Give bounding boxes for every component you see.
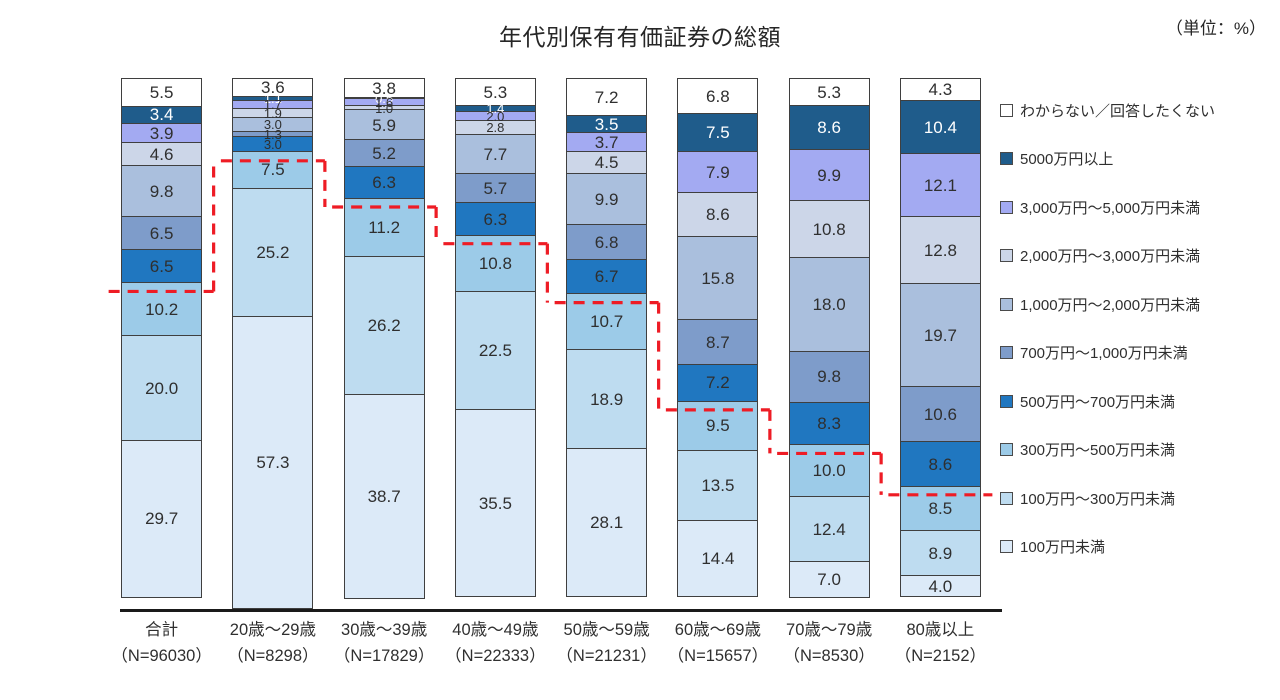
bar-segment[interactable]: 7.2 <box>566 78 647 116</box>
segment-value-label: 3.5 <box>595 116 619 133</box>
legend-label: 2,000万円～3,000万円未満 <box>1020 245 1200 266</box>
bar-segment[interactable]: 6.5 <box>121 216 202 251</box>
bar-segment[interactable]: 8.3 <box>789 402 870 446</box>
legend-swatch-icon <box>1000 152 1013 165</box>
bar-segment[interactable]: 29.7 <box>121 440 202 598</box>
x-axis-labels: 合計（N=96030）20歳～29歳（N=8298）30歳～39歳（N=1782… <box>106 618 996 669</box>
segment-value-label: 29.7 <box>145 510 178 527</box>
bar-segment[interactable]: 18.0 <box>789 257 870 353</box>
stacked-bar[interactable]: 4.310.412.112.819.710.68.68.58.94.0 <box>900 78 981 609</box>
bar-segment[interactable]: 4.0 <box>900 575 981 596</box>
legend-swatch-icon <box>1000 201 1013 214</box>
legend-label: 100万円未満 <box>1020 536 1105 557</box>
bar-segment[interactable]: 3.4 <box>121 106 202 124</box>
segment-value-label: 3.9 <box>150 125 174 142</box>
legend-swatch-icon <box>1000 443 1013 456</box>
segment-value-label: 28.1 <box>590 514 623 531</box>
segment-value-label: 10.6 <box>924 406 957 423</box>
segment-value-label: 9.5 <box>706 417 730 434</box>
bar-segment[interactable]: 6.3 <box>344 166 425 199</box>
bar-segment[interactable]: 9.8 <box>121 165 202 217</box>
x-axis-label: 40歳～49歳（N=22333） <box>440 618 551 669</box>
segment-value-label: 11.2 <box>368 219 400 236</box>
segment-value-label: 6.5 <box>150 258 174 275</box>
segment-value-label: 6.8 <box>595 234 619 251</box>
bar-segment[interactable]: 7.0 <box>789 561 870 598</box>
bar-segment[interactable]: 38.7 <box>344 394 425 599</box>
segment-value-label: 38.7 <box>368 488 401 505</box>
segment-value-label: 8.9 <box>929 545 953 562</box>
x-axis-category: 30歳～39歳 <box>341 621 427 639</box>
bar-segment[interactable]: 10.2 <box>121 282 202 336</box>
segment-value-label: 6.3 <box>484 211 508 228</box>
stacked-bar[interactable]: 5.31.42.02.87.75.76.310.822.535.5 <box>455 78 536 609</box>
bar-segment[interactable]: 3.5 <box>566 115 647 134</box>
segment-value-label: 6.8 <box>706 88 730 105</box>
bar-segment[interactable]: 3.7 <box>566 132 647 152</box>
bar-segment[interactable]: 7.5 <box>677 113 758 153</box>
segment-value-label: 5.3 <box>817 84 841 101</box>
segment-value-label: 8.5 <box>929 500 953 517</box>
segment-value-label: 5.7 <box>484 180 508 197</box>
stacked-bar-group: 5.53.43.94.69.86.56.510.220.029.73.61.11… <box>106 78 996 609</box>
segment-value-label: 5.3 <box>484 84 508 101</box>
segment-value-label: 9.8 <box>817 368 841 385</box>
bar-segment[interactable]: 5.2 <box>344 139 425 167</box>
legend-item[interactable]: 100万円未満 <box>1000 523 1275 572</box>
segment-value-label: 1.0 <box>375 102 393 115</box>
bar-column: 4.310.412.112.819.710.68.68.58.94.0 <box>885 78 996 609</box>
stacked-bar[interactable]: 3.80.51.61.05.95.26.311.226.238.7 <box>344 78 425 609</box>
segment-value-label: 7.5 <box>706 124 730 141</box>
bar-column: 5.53.43.94.69.86.56.510.220.029.7 <box>106 78 217 609</box>
segment-value-label: 8.3 <box>817 415 841 432</box>
bar-segment[interactable]: 9.9 <box>566 173 647 226</box>
segment-value-label: 10.4 <box>924 119 957 136</box>
segment-value-label: 7.9 <box>706 164 730 181</box>
bar-segment[interactable]: 10.6 <box>900 386 981 442</box>
bar-segment[interactable]: 7.7 <box>455 134 536 175</box>
segment-value-label: 19.7 <box>924 327 957 344</box>
legend-label: 300万円～500万円未満 <box>1020 439 1175 460</box>
bar-segment[interactable]: 12.8 <box>900 216 981 284</box>
x-axis-label: 合計（N=96030） <box>106 618 217 669</box>
bar-column: 3.61.11.71.93.01.33.07.525.257.3 <box>217 78 328 609</box>
legend-item[interactable]: 100万円～300万円未満 <box>1000 474 1275 523</box>
bar-segment[interactable]: 3.0 <box>232 136 313 151</box>
bar-segment[interactable]: 8.6 <box>789 105 870 151</box>
segment-value-label: 10.2 <box>145 301 178 318</box>
bar-segment[interactable]: 22.5 <box>455 291 536 410</box>
segment-value-label: 3.7 <box>595 134 619 151</box>
bar-segment[interactable]: 5.7 <box>455 173 536 203</box>
bar-segment[interactable]: 6.7 <box>566 259 647 295</box>
x-axis-sample-size: （N=15657） <box>662 644 773 670</box>
x-axis-sample-size: （N=8530） <box>774 644 885 670</box>
bar-segment[interactable]: 8.9 <box>900 530 981 577</box>
x-axis-category: 80歳以上 <box>906 621 974 639</box>
x-axis-category: 合計 <box>145 621 178 639</box>
x-axis-category: 60歳～69歳 <box>675 621 761 639</box>
legend-label: 5000万円以上 <box>1020 148 1113 169</box>
bar-segment[interactable]: 8.6 <box>677 192 758 238</box>
bar-segment[interactable]: 6.8 <box>677 78 758 114</box>
segment-value-label: 5.5 <box>150 84 174 101</box>
segment-value-label: 4.6 <box>150 146 174 163</box>
bar-segment[interactable]: 57.3 <box>232 316 313 609</box>
bar-segment[interactable]: 6.5 <box>121 249 202 284</box>
segment-value-label: 5.9 <box>372 117 396 134</box>
bar-segment[interactable]: 28.1 <box>566 448 647 597</box>
segment-value-label: 7.5 <box>261 161 285 178</box>
x-axis-sample-size: （N=17829） <box>329 644 440 670</box>
segment-value-label: 4.0 <box>929 578 953 595</box>
segment-value-label: 9.8 <box>150 183 174 200</box>
legend-swatch-icon <box>1000 540 1013 553</box>
segment-value-label: 10.7 <box>590 313 623 330</box>
bar-segment[interactable]: 10.8 <box>789 200 870 257</box>
bar-segment[interactable]: 9.8 <box>789 351 870 403</box>
legend-item[interactable]: 700万円～1,000万円未満 <box>1000 329 1275 378</box>
x-axis-category: 70歳～79歳 <box>786 621 872 639</box>
bar-segment[interactable]: 6.3 <box>455 202 536 235</box>
segment-value-label: 12.1 <box>924 177 957 194</box>
segment-value-label: 5.2 <box>372 145 396 162</box>
bar-segment[interactable]: 4.3 <box>900 78 981 101</box>
bar-segment[interactable]: 7.9 <box>677 151 758 193</box>
segment-value-label: 10.8 <box>479 255 512 272</box>
x-axis-label: 20歳～29歳（N=8298） <box>217 618 328 669</box>
bar-segment[interactable]: 3.9 <box>121 123 202 144</box>
x-axis-sample-size: （N=21231） <box>551 644 662 670</box>
segment-value-label: 18.0 <box>813 296 846 313</box>
bar-column: 7.23.53.74.59.96.86.710.718.928.1 <box>551 78 662 609</box>
bar-segment[interactable]: 6.8 <box>566 224 647 260</box>
legend-label: 1,000万円～2,000万円未満 <box>1020 294 1200 315</box>
bar-segment[interactable]: 7.2 <box>677 364 758 402</box>
legend-label: 100万円～300万円未満 <box>1020 488 1175 509</box>
bar-segment[interactable]: 26.2 <box>344 256 425 395</box>
segment-value-label: 7.0 <box>817 571 841 588</box>
bar-segment[interactable]: 15.8 <box>677 236 758 320</box>
legend-label: 700万円～1,000万円未満 <box>1020 342 1188 363</box>
legend-swatch-icon <box>1000 346 1013 359</box>
segment-value-label: 12.8 <box>924 242 957 259</box>
segment-value-label: 14.4 <box>701 550 734 567</box>
stacked-bar[interactable]: 7.23.53.74.59.96.86.710.718.928.1 <box>566 78 647 609</box>
bar-segment[interactable]: 18.9 <box>566 349 647 449</box>
segment-value-label: 9.9 <box>595 191 619 208</box>
segment-value-label: 26.2 <box>368 317 401 334</box>
x-axis-label: 80歳以上（N=2152） <box>885 618 996 669</box>
stacked-bar[interactable]: 3.61.11.71.93.01.33.07.525.257.3 <box>232 78 313 609</box>
bar-segment[interactable]: 12.1 <box>900 153 981 217</box>
bar-segment[interactable]: 7.5 <box>232 151 313 189</box>
segment-value-label: 8.7 <box>706 334 730 351</box>
legend-item[interactable]: 2,000万円～3,000万円未満 <box>1000 232 1275 281</box>
bar-segment[interactable]: 12.4 <box>789 496 870 562</box>
bar-segment[interactable]: 9.5 <box>677 401 758 451</box>
legend-item[interactable]: 300万円～500万円未満 <box>1000 426 1275 475</box>
segment-value-label: 15.8 <box>701 270 734 287</box>
x-axis-label: 70歳～79歳（N=8530） <box>774 618 885 669</box>
segment-value-label: 10.0 <box>813 462 846 479</box>
segment-value-label: 25.2 <box>256 244 289 261</box>
segment-value-label: 6.3 <box>372 174 396 191</box>
bar-segment[interactable]: 20.0 <box>121 335 202 441</box>
bar-segment[interactable]: 8.6 <box>900 441 981 487</box>
bar-segment[interactable]: 25.2 <box>232 188 313 317</box>
bar-column: 3.80.51.61.05.95.26.311.226.238.7 <box>329 78 440 609</box>
legend-swatch-icon <box>1000 492 1013 505</box>
x-axis-sample-size: （N=22333） <box>440 644 551 670</box>
bar-column: 5.38.69.910.818.09.88.310.012.47.0 <box>774 78 885 609</box>
legend-swatch-icon <box>1000 249 1013 262</box>
bar-segment[interactable]: 10.4 <box>900 100 981 155</box>
segment-value-label: 2.8 <box>486 121 504 134</box>
bar-segment[interactable]: 10.0 <box>789 444 870 497</box>
legend-swatch-icon <box>1000 395 1013 408</box>
x-axis-category: 20歳～29歳 <box>230 621 316 639</box>
segment-value-label: 8.6 <box>706 206 730 223</box>
segment-value-label: 3.4 <box>150 106 174 123</box>
segment-value-label: 9.9 <box>817 167 841 184</box>
legend-item[interactable]: 1,000万円～2,000万円未満 <box>1000 280 1275 329</box>
bar-segment[interactable]: 14.4 <box>677 520 758 596</box>
bar-segment[interactable]: 8.5 <box>900 486 981 531</box>
bar-segment[interactable]: 5.5 <box>121 78 202 107</box>
legend-item[interactable]: 3,000万円～5,000万円未満 <box>1000 183 1275 232</box>
page-title: 年代別保有有価証券の総額 <box>0 18 1280 52</box>
bar-segment[interactable]: 9.9 <box>789 149 870 202</box>
segment-value-label: 4.5 <box>595 154 619 171</box>
segment-value-label: 8.6 <box>929 456 953 473</box>
segment-value-label: 10.8 <box>813 221 846 238</box>
segment-value-label: 4.3 <box>929 81 953 98</box>
legend-swatch-icon <box>1000 104 1013 117</box>
bar-segment[interactable]: 19.7 <box>900 283 981 388</box>
stacked-bar[interactable]: 5.38.69.910.818.09.88.310.012.47.0 <box>789 78 870 609</box>
bar-column: 5.31.42.02.87.75.76.310.822.535.5 <box>440 78 551 609</box>
segment-value-label: 18.9 <box>590 391 623 408</box>
segment-value-label: 57.3 <box>256 454 289 471</box>
segment-value-label: 7.2 <box>706 374 730 391</box>
legend-label: 500万円～700万円未満 <box>1020 391 1175 412</box>
x-axis-sample-size: （N=2152） <box>885 644 996 670</box>
x-axis-category: 40歳～49歳 <box>452 621 538 639</box>
unit-annotation: （単位：%） <box>1166 14 1266 39</box>
stacked-bar[interactable]: 6.87.57.98.615.88.77.29.513.514.4 <box>677 78 758 609</box>
segment-value-label: 6.7 <box>595 268 619 285</box>
bar-segment[interactable]: 11.2 <box>344 198 425 257</box>
segment-value-label: 35.5 <box>479 495 512 512</box>
x-axis-label: 30歳～39歳（N=17829） <box>329 618 440 669</box>
legend-label: わからない／回答したくない <box>1020 100 1215 121</box>
segment-value-label: 12.4 <box>813 521 846 538</box>
segment-value-label: 22.5 <box>479 342 512 359</box>
bar-segment[interactable]: 10.8 <box>455 235 536 292</box>
x-axis-sample-size: （N=96030） <box>106 644 217 670</box>
x-axis-label: 60歳～69歳（N=15657） <box>662 618 773 669</box>
legend-item[interactable]: 500万円～700万円未満 <box>1000 377 1275 426</box>
bar-segment[interactable]: 4.5 <box>566 151 647 175</box>
bar-segment[interactable]: 5.3 <box>789 78 870 106</box>
segment-value-label: 8.6 <box>817 119 841 136</box>
bar-segment[interactable]: 10.7 <box>566 293 647 350</box>
bar-segment[interactable]: 35.5 <box>455 409 536 598</box>
segment-value-label: 7.2 <box>595 89 619 106</box>
legend-label: 3,000万円～5,000万円未満 <box>1020 197 1200 218</box>
x-axis-line <box>120 609 1002 612</box>
segment-value-label: 3.0 <box>264 138 282 151</box>
bar-column: 6.87.57.98.615.88.77.29.513.514.4 <box>662 78 773 609</box>
segment-value-label: 6.5 <box>150 225 174 242</box>
segment-value-label: 13.5 <box>701 477 734 494</box>
legend-item[interactable]: わからない／回答したくない <box>1000 86 1275 135</box>
x-axis-category: 50歳～59歳 <box>564 621 650 639</box>
x-axis-label: 50歳～59歳（N=21231） <box>551 618 662 669</box>
chart-root: 年代別保有有価証券の総額 （単位：%） 5.53.43.94.69.86.56.… <box>0 0 1280 700</box>
x-axis-sample-size: （N=8298） <box>217 644 328 670</box>
bar-segment[interactable]: 4.6 <box>121 142 202 166</box>
bar-segment[interactable]: 13.5 <box>677 450 758 522</box>
segment-value-label: 7.7 <box>484 146 508 163</box>
bar-segment[interactable]: 8.7 <box>677 319 758 365</box>
legend: わからない／回答したくない5000万円以上3,000万円～5,000万円未満2,… <box>1000 86 1275 571</box>
legend-swatch-icon <box>1000 298 1013 311</box>
plot-area: 5.53.43.94.69.86.56.510.220.029.73.61.11… <box>106 78 996 612</box>
legend-item[interactable]: 5000万円以上 <box>1000 135 1275 184</box>
segment-value-label: 20.0 <box>145 380 178 397</box>
stacked-bar[interactable]: 5.53.43.94.69.86.56.510.220.029.7 <box>121 78 202 609</box>
